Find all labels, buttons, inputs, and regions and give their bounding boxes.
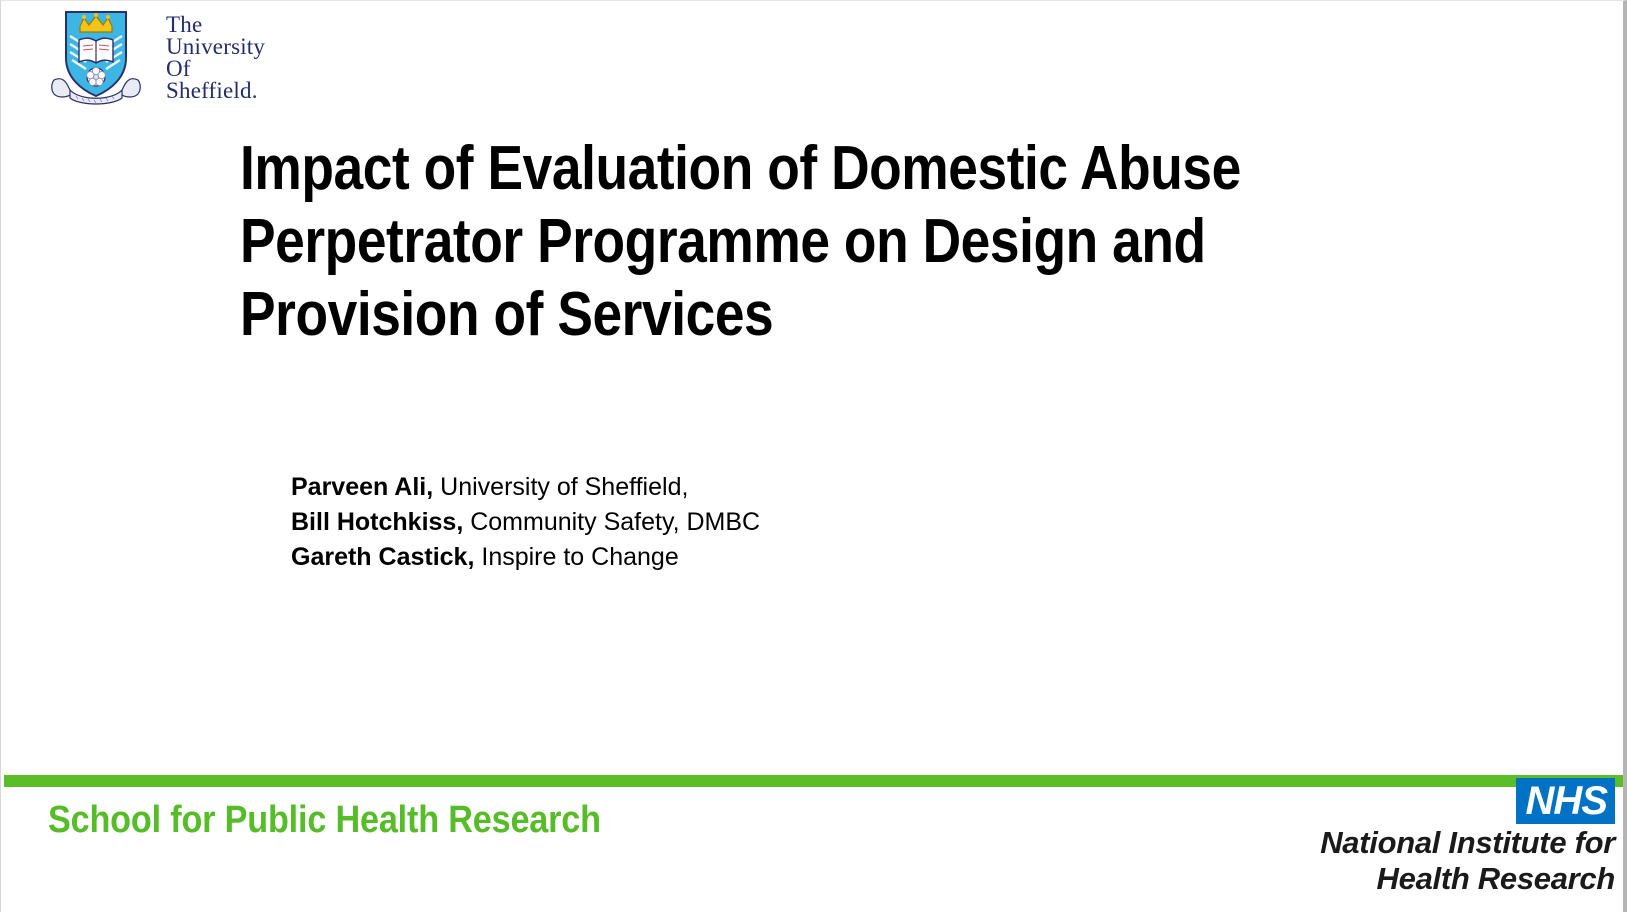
slide-title: Impact of Evaluation of Domestic Abuse P… bbox=[240, 132, 1289, 351]
author-affiliation: Community Safety, DMBC bbox=[463, 508, 760, 536]
nihr-logo: NHS National Institute for Health Resear… bbox=[1255, 778, 1615, 896]
author-row: Gareth Castick, Inspire to Change bbox=[291, 540, 1191, 575]
author-name: Bill Hotchkiss, bbox=[291, 508, 463, 536]
author-name: Gareth Castick, bbox=[291, 543, 474, 571]
author-row: Parveen Ali, University of Sheffield, bbox=[291, 470, 1191, 505]
wordmark-line-1: The bbox=[166, 14, 265, 36]
author-affiliation: Inspire to Change bbox=[474, 543, 678, 571]
title-block: Impact of Evaluation of Domestic Abuse P… bbox=[240, 132, 1460, 351]
university-crest-icon bbox=[48, 6, 144, 106]
wordmark-line-3: Of bbox=[166, 58, 265, 80]
nhs-badge: NHS bbox=[1516, 778, 1615, 824]
wordmark-line-4: Sheffield. bbox=[166, 80, 265, 102]
presentation-slide: The University Of Sheffield. Impact of E… bbox=[0, 0, 1627, 912]
wordmark-line-2: University bbox=[166, 36, 265, 58]
author-affiliation: University of Sheffield, bbox=[433, 473, 688, 501]
author-name: Parveen Ali, bbox=[291, 473, 433, 501]
nihr-line-1: National Institute for bbox=[1255, 826, 1615, 860]
university-of-sheffield-logo: The University Of Sheffield. bbox=[48, 6, 348, 110]
nihr-line-2: Health Research bbox=[1255, 862, 1615, 896]
author-list: Parveen Ali, University of Sheffield, Bi… bbox=[291, 470, 1191, 575]
university-wordmark: The University Of Sheffield. bbox=[166, 14, 265, 102]
author-row: Bill Hotchkiss, Community Safety, DMBC bbox=[291, 505, 1191, 540]
footer-organisation-label: School for Public Health Research bbox=[48, 799, 601, 841]
